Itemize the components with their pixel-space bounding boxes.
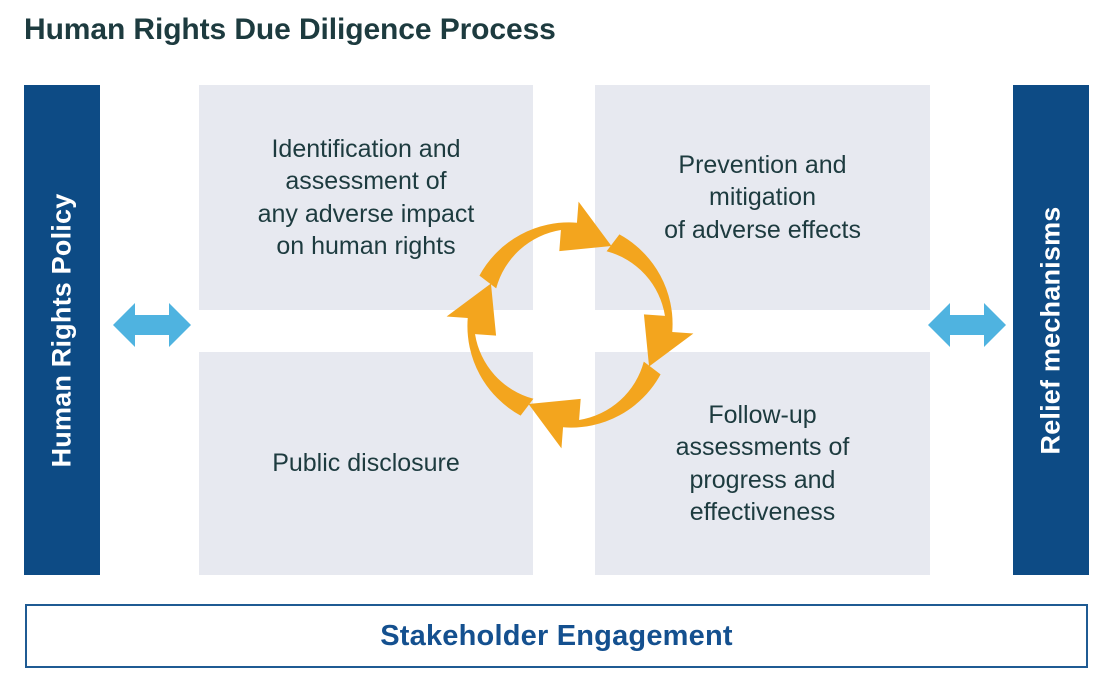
quadrant-public-disclosure-text: Public disclosure bbox=[211, 447, 521, 480]
relief-mechanisms-label: Relief mechanisms bbox=[1036, 206, 1067, 454]
text-line: Identification and bbox=[211, 133, 521, 166]
stakeholder-engagement-bar: Stakeholder Engagement bbox=[25, 604, 1088, 668]
left-double-arrow-shape bbox=[113, 303, 191, 347]
right-double-arrow-shape bbox=[928, 303, 1006, 347]
page-title: Human Rights Due Diligence Process bbox=[24, 8, 924, 52]
cycle-segment-2 bbox=[577, 232, 695, 376]
text-line: progress and bbox=[607, 464, 918, 497]
text-line: effectiveness bbox=[607, 496, 918, 529]
text-line: Public disclosure bbox=[211, 447, 521, 480]
diagram-canvas: Human Rights Due Diligence Process Human… bbox=[0, 0, 1113, 692]
text-line: assessment of bbox=[211, 165, 521, 198]
stakeholder-engagement-label: Stakeholder Engagement bbox=[380, 620, 733, 653]
human-rights-policy-bar: Human Rights Policy bbox=[24, 85, 100, 575]
right-double-arrow-icon bbox=[928, 301, 1006, 349]
relief-mechanisms-bar: Relief mechanisms bbox=[1013, 85, 1089, 575]
cycle-segment-1 bbox=[477, 200, 621, 318]
cycle-arrow-segments bbox=[445, 200, 695, 450]
cycle-segment-3 bbox=[519, 332, 663, 450]
human-rights-policy-label: Human Rights Policy bbox=[47, 193, 78, 467]
cycle-arrows-icon bbox=[445, 200, 695, 450]
text-line: Prevention and bbox=[607, 149, 918, 182]
left-double-arrow-icon bbox=[113, 301, 191, 349]
cycle-segment-4 bbox=[445, 274, 563, 418]
